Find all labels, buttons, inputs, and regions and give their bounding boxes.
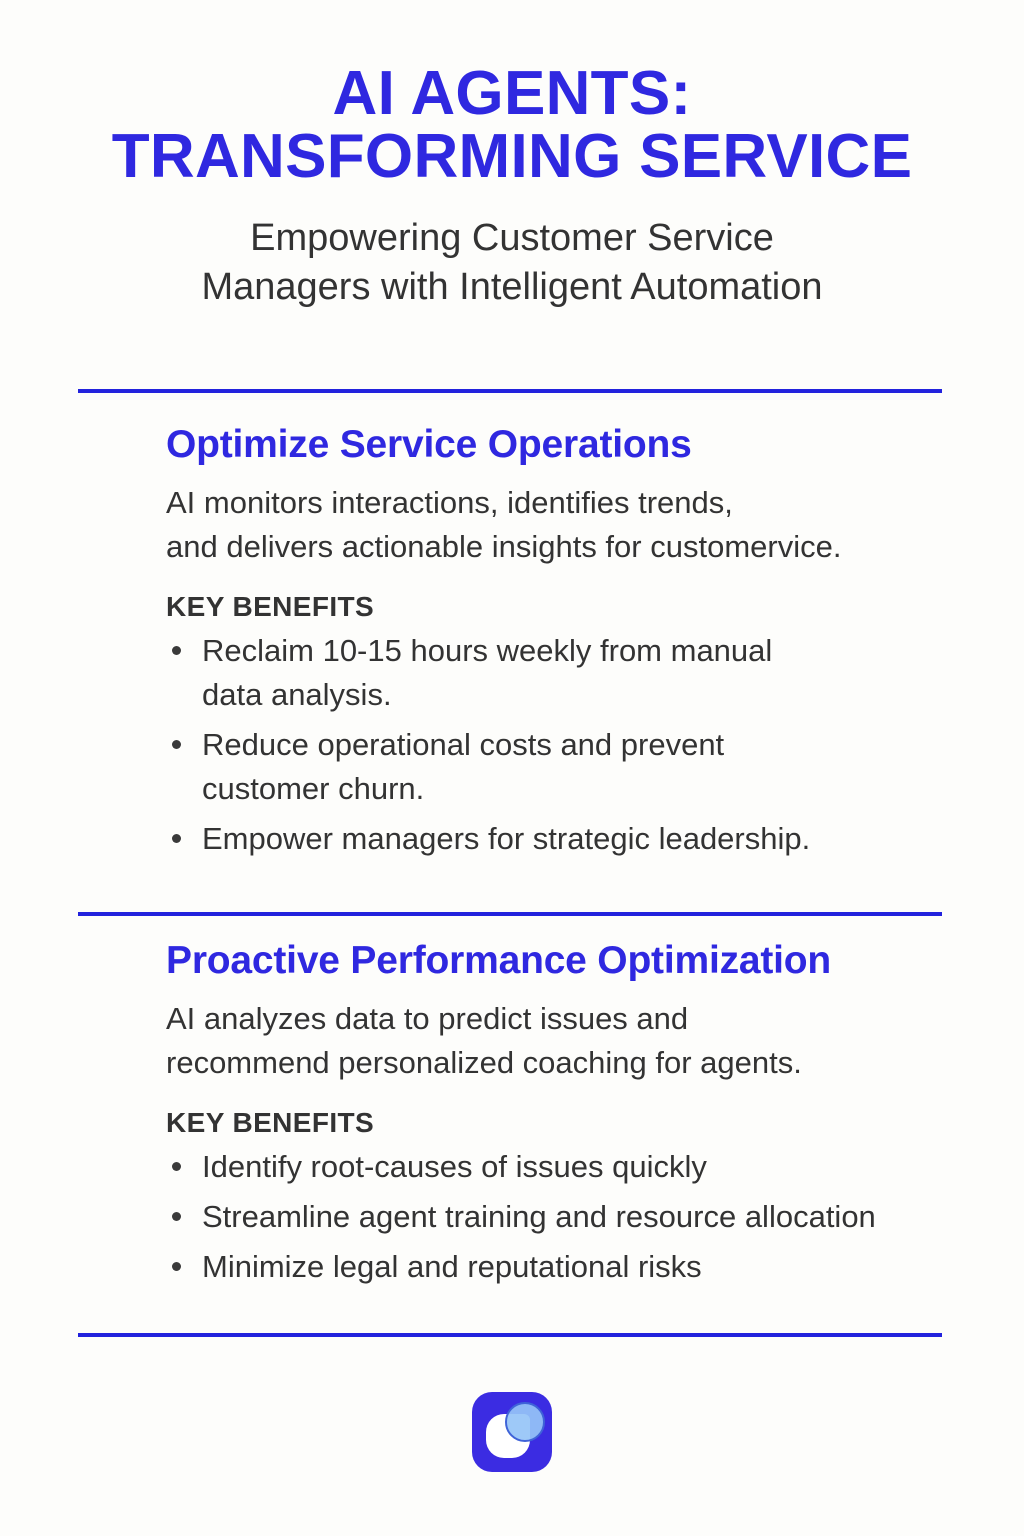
section-1-bullet-2-line-2: customer churn. xyxy=(202,771,424,806)
subtitle-line-1: Empowering Customer Service xyxy=(112,214,912,263)
section-1-bullet-2-line-1: Reduce operational costs and prevent xyxy=(202,723,996,767)
section-1-benefits-label: KEY BENEFITS xyxy=(166,591,996,623)
section-1-bullet-3-line-1: Empower managers for strategic leadershi… xyxy=(202,817,996,861)
title-line-2: TRANSFORMING SERVICE xyxy=(40,125,984,188)
divider-top xyxy=(78,389,942,393)
section-1-bullet-1-line-2: data analysis. xyxy=(202,677,392,712)
section-2-body-line-1: AI analyzes data to predict issues and xyxy=(166,997,996,1041)
title-line-1: AI AGENTS: xyxy=(333,59,692,128)
section-1-body-line-2: and delivers actionable insights for cus… xyxy=(166,525,996,569)
list-item: Empower managers for strategic leadershi… xyxy=(166,817,996,861)
list-item: Identify root-causes of issues quickly xyxy=(166,1145,996,1189)
list-item: Reclaim 10-15 hours weekly from manual d… xyxy=(166,629,996,717)
section-2-bullet-3-line-1: Minimize legal and reputational risks xyxy=(202,1245,996,1289)
section-2-heading: Proactive Performance Optimization xyxy=(166,940,996,983)
bullet-dot-icon xyxy=(172,646,181,655)
divider-middle xyxy=(78,912,942,916)
bullet-dot-icon xyxy=(172,1262,181,1271)
section-optimize-service-operations: Optimize Service Operations AI monitors … xyxy=(166,424,996,867)
section-1-body: AI monitors interactions, identifies tre… xyxy=(166,481,996,569)
section-1-heading: Optimize Service Operations xyxy=(166,424,996,467)
page-title: AI AGENTS: TRANSFORMING SERVICE xyxy=(40,62,984,188)
bullet-dot-icon xyxy=(172,1162,181,1171)
page-subtitle: Empowering Customer Service Managers wit… xyxy=(112,214,912,311)
section-2-body-line-2: recommend personalized coaching for agen… xyxy=(166,1041,996,1085)
bullet-dot-icon xyxy=(172,740,181,749)
logo-circle-shape-icon xyxy=(505,1402,545,1442)
bullet-dot-icon xyxy=(172,1212,181,1221)
section-proactive-performance-optimization: Proactive Performance Optimization AI an… xyxy=(166,940,996,1295)
brand-logo-icon xyxy=(472,1392,552,1472)
poster-footer xyxy=(0,1392,1024,1472)
section-2-bullet-1-line-1: Identify root-causes of issues quickly xyxy=(202,1145,996,1189)
section-2-bullet-2-line-1: Streamline agent training and resource a… xyxy=(202,1195,996,1239)
divider-bottom xyxy=(78,1333,942,1337)
list-item: Minimize legal and reputational risks xyxy=(166,1245,996,1289)
section-1-body-line-1: AI monitors interactions, identifies tre… xyxy=(166,481,996,525)
list-item: Reduce operational costs and prevent cus… xyxy=(166,723,996,811)
section-1-bullet-1-line-1: Reclaim 10-15 hours weekly from manual xyxy=(202,629,996,673)
poster-header: AI AGENTS: TRANSFORMING SERVICE Empoweri… xyxy=(0,0,1024,312)
section-2-body: AI analyzes data to predict issues and r… xyxy=(166,997,996,1085)
section-2-benefits-list: Identify root-causes of issues quickly S… xyxy=(166,1145,996,1289)
list-item: Streamline agent training and resource a… xyxy=(166,1195,996,1239)
subtitle-line-2: Managers with Intelligent Automation xyxy=(112,263,912,312)
section-1-benefits-list: Reclaim 10-15 hours weekly from manual d… xyxy=(166,629,996,861)
bullet-dot-icon xyxy=(172,834,181,843)
infographic-poster: AI AGENTS: TRANSFORMING SERVICE Empoweri… xyxy=(0,0,1024,1536)
section-2-benefits-label: KEY BENEFITS xyxy=(166,1107,996,1139)
